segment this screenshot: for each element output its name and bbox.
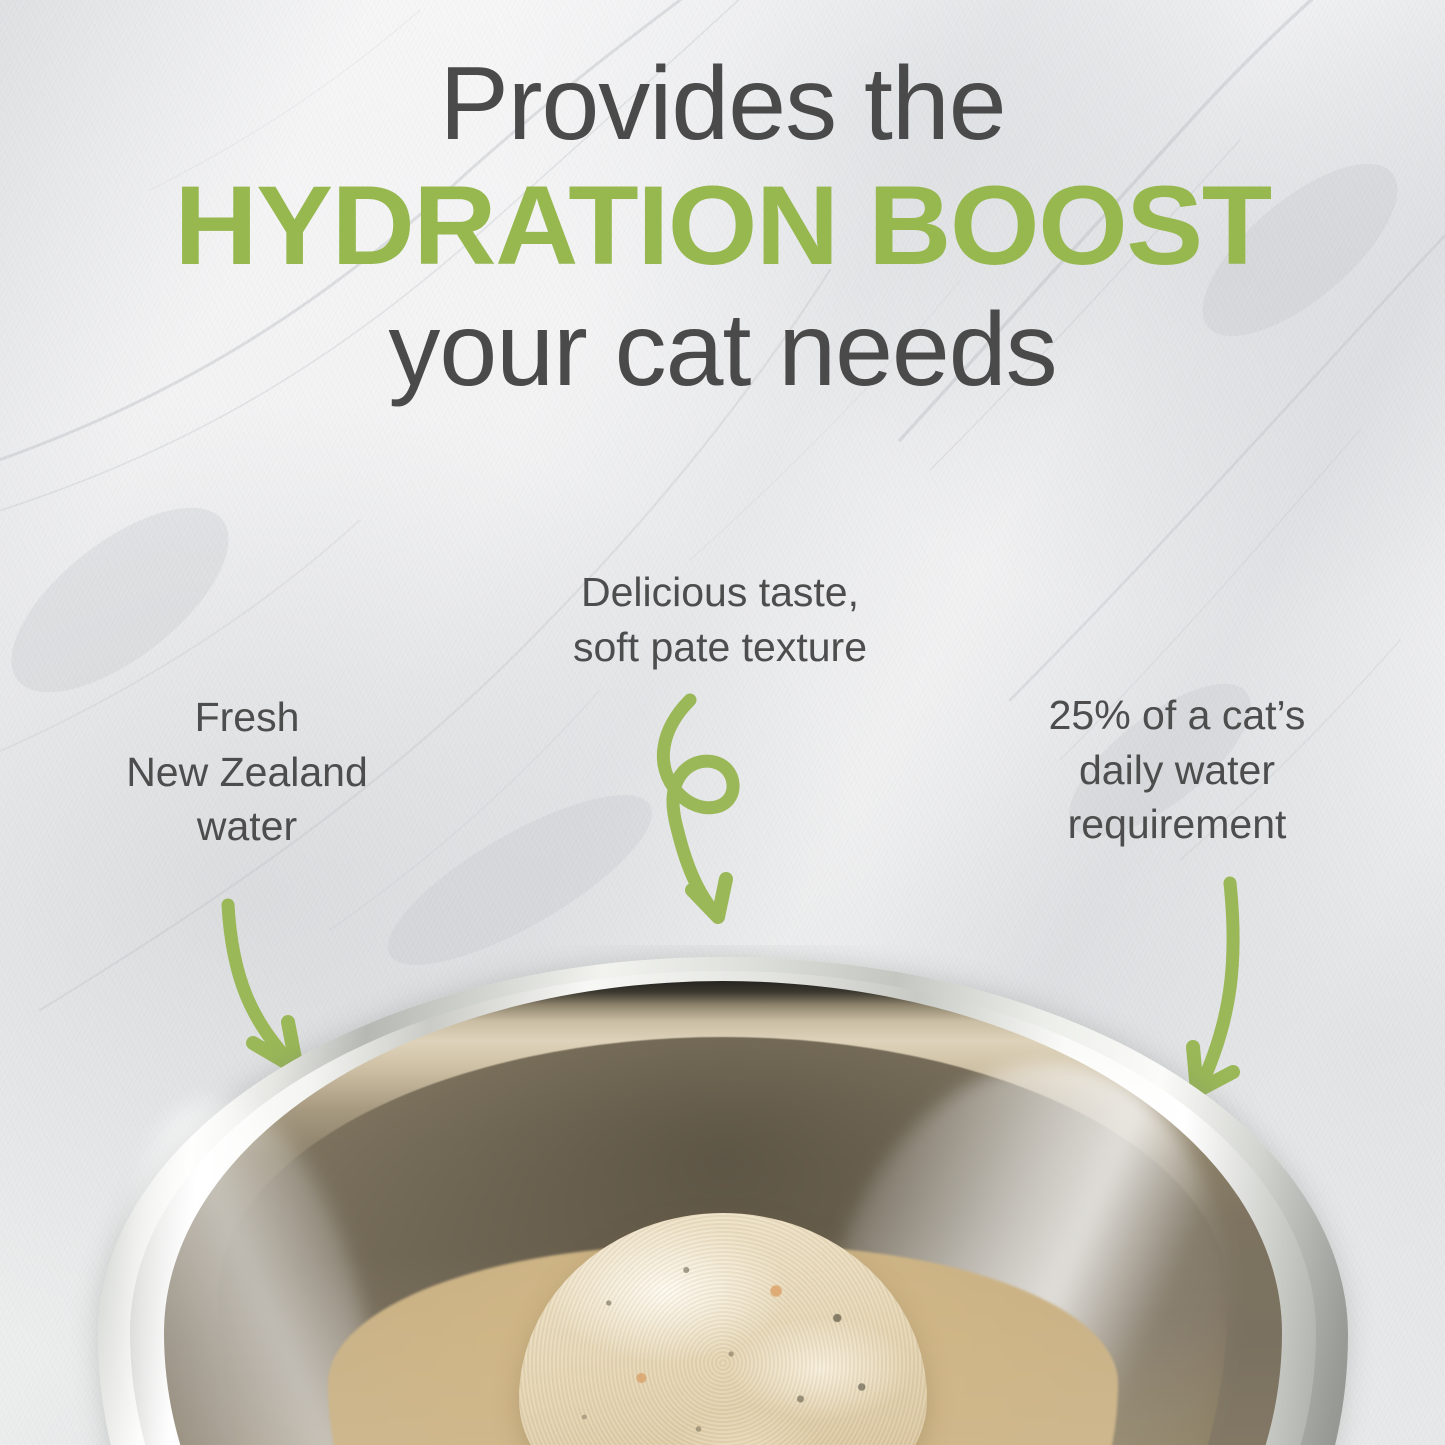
- headline-line-1: Provides the: [0, 52, 1445, 156]
- callout-fresh-water-line-3: water: [82, 799, 412, 854]
- callout-taste-texture: Delicious taste, soft pate texture: [520, 565, 920, 674]
- callout-fresh-water-line-2: New Zealand: [82, 745, 412, 800]
- callout-water-requirement-line-1: 25% of a cat’s: [1002, 688, 1352, 743]
- callout-water-requirement-line-3: requirement: [1002, 797, 1352, 852]
- callout-water-requirement-line-2: daily water: [1002, 743, 1352, 798]
- callout-water-requirement: 25% of a cat’s daily water requirement: [1002, 688, 1352, 852]
- callout-taste-texture-line-2: soft pate texture: [520, 620, 920, 675]
- callout-fresh-water: Fresh New Zealand water: [82, 690, 412, 854]
- cat-bowl: [0, 945, 1445, 1445]
- callout-fresh-water-line-1: Fresh: [82, 690, 412, 745]
- headline-line-2-accent: HYDRATION BOOST: [0, 170, 1445, 282]
- promo-image: Provides the HYDRATION BOOST your cat ne…: [0, 0, 1445, 1445]
- headline-line-3: your cat needs: [0, 298, 1445, 402]
- callout-taste-texture-line-1: Delicious taste,: [520, 565, 920, 620]
- headline: Provides the HYDRATION BOOST your cat ne…: [0, 52, 1445, 402]
